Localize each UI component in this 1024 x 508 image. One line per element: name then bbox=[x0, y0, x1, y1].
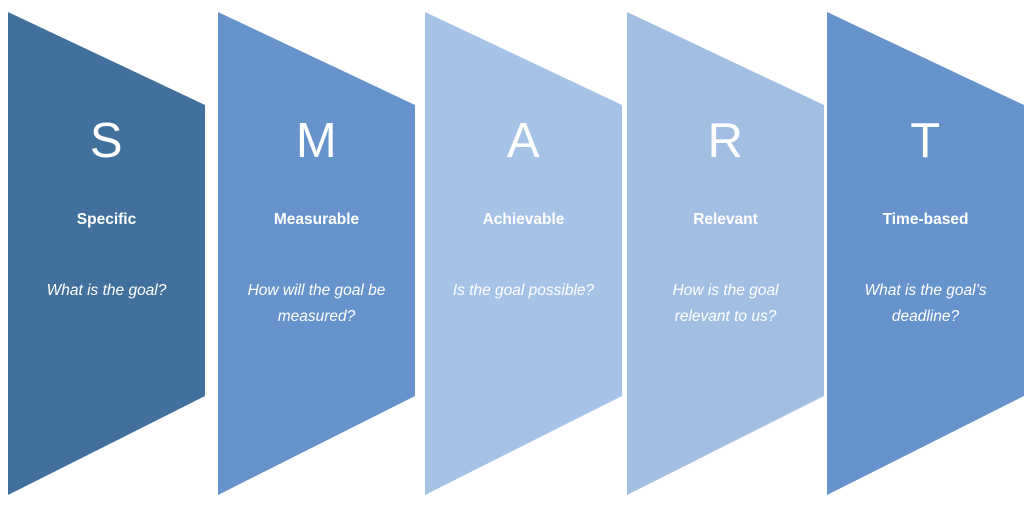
chevron-shape-specific bbox=[8, 0, 214, 508]
smart-step-specific[interactable]: S Specific What is the goal? bbox=[8, 0, 214, 508]
smart-step-achievable[interactable]: A Achievable Is the goal possible? bbox=[425, 0, 631, 508]
smart-step-measurable[interactable]: M Measurable How will the goal be measur… bbox=[218, 0, 424, 508]
chevron-shape-achievable bbox=[425, 0, 631, 508]
chevron-shape-measurable bbox=[218, 0, 424, 508]
smart-step-time-based[interactable]: T Time-based What is the goal’s deadline… bbox=[827, 0, 1024, 508]
smart-step-relevant[interactable]: R Relevant How is the goal relevant to u… bbox=[627, 0, 833, 508]
chevron-shape-time-based bbox=[827, 0, 1024, 508]
smart-goals-diagram: S Specific What is the goal? M Measurabl… bbox=[0, 0, 1024, 508]
chevron-shape-relevant bbox=[627, 0, 833, 508]
